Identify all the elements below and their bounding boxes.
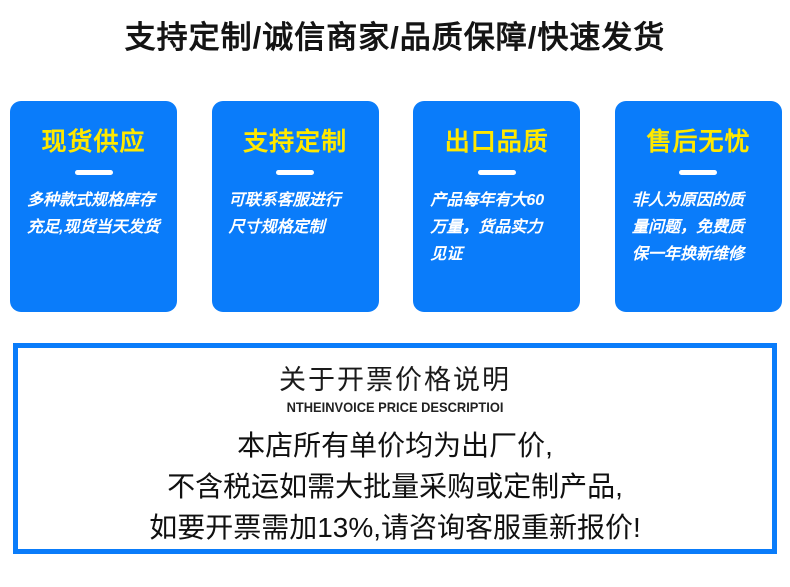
notice-line: 本店所有单价均为出厂价, [18, 425, 772, 466]
desc-line: 多种款式规格库存 [27, 187, 163, 214]
feature-card-title: 现货供应 [41, 127, 145, 157]
desc-line: 见证 [430, 241, 566, 268]
card-divider-bar [276, 170, 314, 175]
feature-card-title: 支持定制 [243, 127, 347, 157]
feature-card-description: 非人为原因的质 量问题，免费质 保一年换新维修 [629, 187, 768, 268]
feature-card-4[interactable]: 售后无忧 非人为原因的质 量问题，免费质 保一年换新维修 [615, 101, 782, 312]
card-divider-bar [75, 170, 113, 175]
notice-body: 本店所有单价均为出厂价, 不含税运如需大批量采购或定制产品, 如要开票需加13%… [18, 425, 772, 548]
notice-title: 关于开票价格说明 [18, 363, 772, 397]
feature-card-3[interactable]: 出口品质 产品每年有大60 万量，货品实力 见证 [413, 101, 580, 312]
desc-line: 量问题，免费质 [632, 214, 768, 241]
desc-line: 充足,现货当天发货 [27, 214, 163, 241]
feature-card-2[interactable]: 支持定制 可联系客服进行 尺寸规格定制 [212, 101, 379, 312]
feature-card-description: 产品每年有大60 万量，货品实力 见证 [427, 187, 566, 268]
notice-line: 如要开票需加13%,请咨询客服重新报价! [18, 507, 772, 548]
card-divider-bar [478, 170, 516, 175]
desc-line: 产品每年有大60 [430, 187, 566, 214]
feature-card-description: 可联系客服进行 尺寸规格定制 [226, 187, 365, 241]
feature-card-description: 多种款式规格库存 充足,现货当天发货 [24, 187, 163, 241]
notice-subtitle-english: NTHEINVOICE PRICE DESCRIPTIOI [48, 398, 742, 416]
desc-line: 万量，货品实力 [430, 214, 566, 241]
desc-line: 保一年换新维修 [632, 241, 768, 268]
invoice-price-notice-box: 关于开票价格说明 NTHEINVOICE PRICE DESCRIPTIOI 本… [13, 343, 777, 554]
notice-line: 不含税运如需大批量采购或定制产品, [18, 466, 772, 507]
desc-line: 尺寸规格定制 [229, 214, 365, 241]
feature-card-title: 出口品质 [445, 127, 549, 157]
card-divider-bar [679, 170, 717, 175]
feature-cards-row: 现货供应 多种款式规格库存 充足,现货当天发货 支持定制 可联系客服进行 尺寸规… [10, 101, 782, 312]
desc-line: 非人为原因的质 [632, 187, 768, 214]
feature-card-title: 售后无忧 [646, 127, 750, 157]
header-banner-text: 支持定制/诚信商家/品质保障/快速发货 [0, 16, 790, 60]
feature-card-1[interactable]: 现货供应 多种款式规格库存 充足,现货当天发货 [10, 101, 177, 312]
desc-line: 可联系客服进行 [229, 187, 365, 214]
